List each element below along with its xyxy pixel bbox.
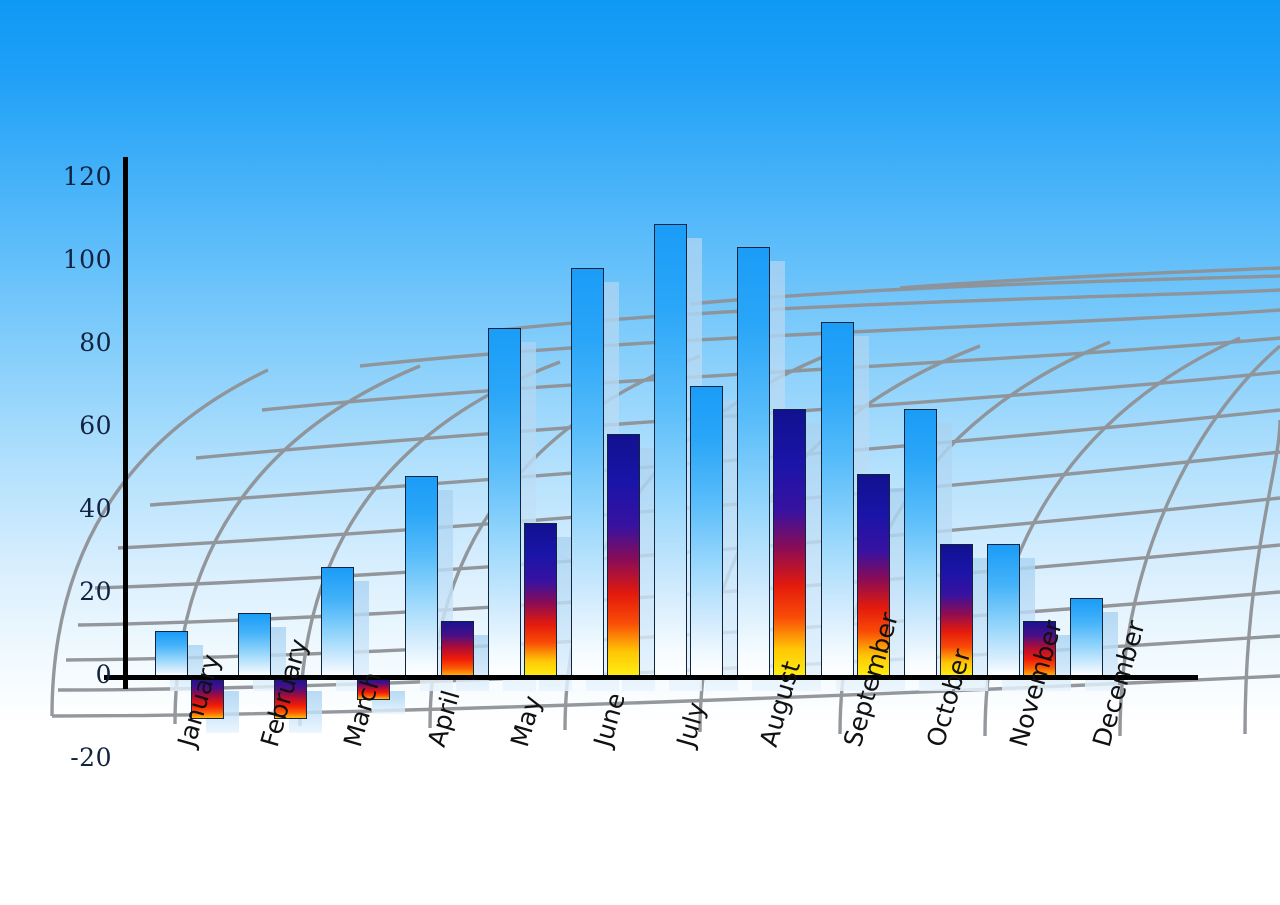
bar-face [654,224,687,677]
y-axis-tick-label: 100 [63,245,112,274]
bar-face [821,322,854,677]
bar-face [607,434,640,677]
bar-face [524,523,557,677]
x-axis-tick-label-april: April [422,687,466,750]
x-axis-tick-label-july: July [671,699,711,750]
y-axis-tick-label: -20 [70,743,112,772]
bar-july-series2 [690,386,723,677]
bar-face [571,268,604,677]
plot-area: 120100806040200-20 JanuaryFebruaryMarchA… [0,0,1280,905]
bar-june-series1 [571,268,604,677]
y-axis-line [123,157,128,689]
y-axis-tick-label: 40 [79,494,112,523]
bar-may-series1 [488,328,521,677]
bar-face [987,544,1020,677]
y-axis-tick-label: 60 [79,411,112,440]
bar-december-series1 [1070,598,1103,677]
y-axis-tick-label: 0 [96,660,112,689]
bar-january-series1 [155,631,188,677]
bar-may-series2 [524,523,557,677]
bar-june-series2 [607,434,640,677]
chart-canvas: 120100806040200-20 JanuaryFebruaryMarchA… [0,0,1280,905]
x-axis-tick-label-june: June [588,690,631,750]
bar-face [904,409,937,677]
bar-face [155,631,188,677]
bar-face [1070,598,1103,677]
bar-face [321,567,354,677]
bar-august-series1 [737,247,770,677]
y-axis-tick-label: 20 [79,577,112,606]
bar-october-series1 [904,409,937,677]
x-axis-tick-label-may: May [505,692,547,750]
bar-face [773,409,806,677]
bar-face [690,386,723,677]
y-axis-tick-label: 120 [63,162,112,191]
bar-face [441,621,474,677]
bar-face [488,328,521,677]
y-axis-tick-label: 80 [79,328,112,357]
bar-face [405,476,438,677]
bar-july-series1 [654,224,687,677]
bar-february-series1 [238,613,271,677]
bar-march-series1 [321,567,354,677]
bar-april-series2 [441,621,474,677]
bar-face [737,247,770,677]
bar-august-series2 [773,409,806,677]
bar-april-series1 [405,476,438,677]
bar-november-series1 [987,544,1020,677]
bar-face [238,613,271,677]
bar-september-series1 [821,322,854,677]
